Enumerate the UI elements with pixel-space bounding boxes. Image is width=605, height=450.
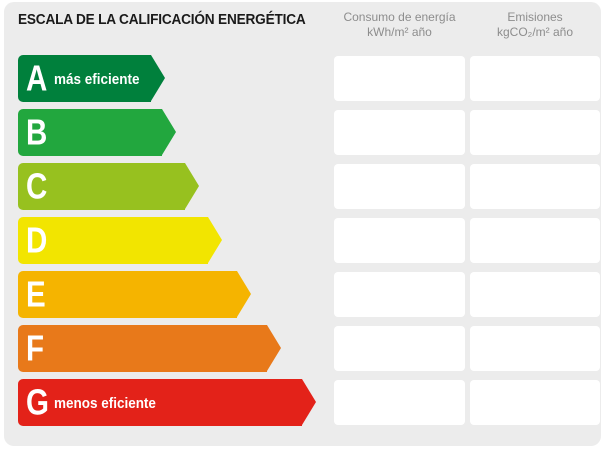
rating-letter-a: A (26, 60, 47, 96)
rating-bar-body (18, 325, 267, 372)
rating-bar-arrow-tip (267, 325, 281, 371)
rating-bar-e: E (18, 271, 251, 318)
rating-bar-arrow-tip (237, 271, 251, 317)
rating-letter-g: G (26, 384, 48, 420)
rating-letter-b: B (26, 114, 47, 150)
rating-bar-a: Amás eficiente (18, 55, 165, 102)
rating-bar-arrow-tip (302, 379, 316, 425)
column-header-emisiones-line1: Emisiones (507, 10, 562, 24)
rating-letter-e: E (26, 276, 45, 312)
rating-sublabel: menos eficiente (54, 395, 156, 411)
energy-rating-panel: ESCALA DE LA CALIFICACIÓN ENERGÉTICA Con… (4, 2, 601, 446)
rating-bar-b: B (18, 109, 176, 156)
consumo-value-cell[interactable] (334, 272, 465, 317)
emisiones-value-cell[interactable] (470, 110, 600, 155)
emisiones-value-cell[interactable] (470, 164, 600, 209)
rating-bar-c: C (18, 163, 199, 210)
rating-bar-arrow-tip (162, 109, 176, 155)
rating-bar-d: D (18, 217, 222, 264)
consumo-value-cell[interactable] (334, 56, 465, 101)
column-header-consumo-line1: Consumo de energía (343, 10, 455, 24)
page-title: ESCALA DE LA CALIFICACIÓN ENERGÉTICA (18, 12, 306, 28)
consumo-value-cell[interactable] (334, 110, 465, 155)
rating-sublabel: más eficiente (54, 71, 139, 87)
emisiones-value-cell[interactable] (470, 56, 600, 101)
rating-bar-arrow-tip (151, 55, 165, 101)
emisiones-value-cell[interactable] (470, 380, 600, 425)
column-header-consumo-line2: kWh/m² año (334, 25, 465, 40)
consumo-value-cell[interactable] (334, 380, 465, 425)
consumo-value-cell[interactable] (334, 218, 465, 263)
column-header-emisiones-line2: kgCO₂/m² año (470, 25, 600, 40)
rating-bar-f: F (18, 325, 281, 372)
consumo-value-cell[interactable] (334, 326, 465, 371)
emisiones-value-cell[interactable] (470, 326, 600, 371)
rating-bar-body (18, 217, 208, 264)
rating-bar-arrow-tip (208, 217, 222, 263)
column-header-consumo: Consumo de energía kWh/m² año (334, 10, 465, 40)
consumo-value-cell[interactable] (334, 164, 465, 209)
rating-letter-f: F (26, 330, 43, 366)
rating-bar-body (18, 271, 237, 318)
column-header-emisiones: Emisiones kgCO₂/m² año (470, 10, 600, 40)
emisiones-value-cell[interactable] (470, 218, 600, 263)
emisiones-value-cell[interactable] (470, 272, 600, 317)
rating-letter-c: C (26, 168, 47, 204)
rating-bar-g: Gmenos eficiente (18, 379, 316, 426)
rating-letter-d: D (26, 222, 47, 258)
rating-bar-arrow-tip (185, 163, 199, 209)
